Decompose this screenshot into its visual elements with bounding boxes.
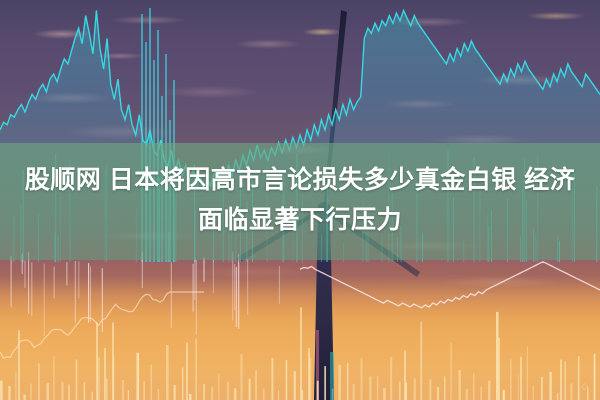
news-banner: 股顺网 日本将因高市言论损失多少真金白银 经济 面临显著下行压力 ◇ bbox=[0, 0, 600, 400]
headline-line-2: 面临显著下行压力 bbox=[0, 200, 600, 240]
corner-watermark: ◇ bbox=[581, 381, 588, 392]
headline-line-1: 股顺网 日本将因高市言论损失多少真金白银 经济 bbox=[0, 160, 600, 200]
volume-bar-layer bbox=[0, 307, 595, 400]
page-title: 股顺网 日本将因高市言论损失多少真金白银 经济 面临显著下行压力 bbox=[0, 160, 600, 240]
